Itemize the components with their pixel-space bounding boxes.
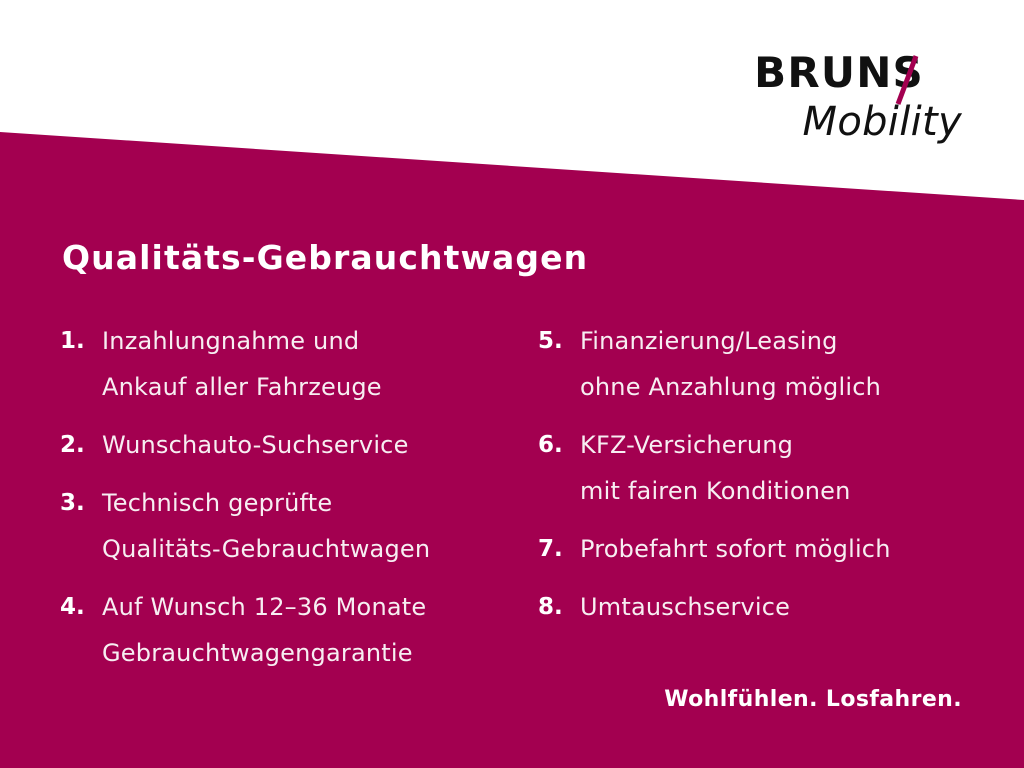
list-item-text: KFZ-Versicherung mit fairen Konditionen [580,422,998,514]
list-item-number: 4. [60,584,102,630]
list-item-line: KFZ-Versicherung [580,422,998,468]
list-item-number: 1. [60,318,102,364]
list-item: 8. Umtauschservice [538,584,998,630]
list-item: 2. Wunschauto-Suchservice [60,422,520,468]
list-item-number: 5. [538,318,580,364]
list-item-text: Umtauschservice [580,584,998,630]
list-item-line: Auf Wunsch 12–36 Monate [102,584,520,630]
list-item-number: 3. [60,480,102,526]
list-item-line: Gebrauchtwagengarantie [102,630,520,676]
list-item-line: Inzahlungnahme und [102,318,520,364]
benefits-list-right: 5. Finanzierung/Leasing ohne Anzahlung m… [538,318,998,642]
list-item-number: 2. [60,422,102,468]
list-item: 3. Technisch geprüfte Qualitäts-Gebrauch… [60,480,520,572]
tagline: Wohlfühlen. Losfahren. [664,687,962,712]
list-item: 4. Auf Wunsch 12–36 Monate Gebrauchtwage… [60,584,520,676]
list-item: 1. Inzahlungnahme und Ankauf aller Fahrz… [60,318,520,410]
list-item-line: Finanzierung/Leasing [580,318,998,364]
list-item-line: Qualitäts-Gebrauchtwagen [102,526,520,572]
list-item: 7. Probefahrt sofort möglich [538,526,998,572]
list-item: 6. KFZ-Versicherung mit fairen Kondition… [538,422,998,514]
list-item-text: Probefahrt sofort möglich [580,526,998,572]
list-item-number: 6. [538,422,580,468]
list-item-line: Umtauschservice [580,584,998,630]
list-item-line: Ankauf aller Fahrzeuge [102,364,520,410]
list-item-line: Technisch geprüfte [102,480,520,526]
list-item-text: Finanzierung/Leasing ohne Anzahlung mögl… [580,318,998,410]
list-item-number: 7. [538,526,580,572]
list-item-text: Auf Wunsch 12–36 Monate Gebrauchtwagenga… [102,584,520,676]
list-item-line: ohne Anzahlung möglich [580,364,998,410]
benefits-list-left: 1. Inzahlungnahme und Ankauf aller Fahrz… [60,318,520,688]
list-item-text: Technisch geprüfte Qualitäts-Gebrauchtwa… [102,480,520,572]
presentation-slide: BRUNS Mobility Qualitäts-Gebrauchtwagen … [0,0,1024,768]
list-item-text: Wunschauto-Suchservice [102,422,520,468]
list-item-text: Inzahlungnahme und Ankauf aller Fahrzeug… [102,318,520,410]
list-item-line: Wunschauto-Suchservice [102,422,520,468]
logo-brand-text: BRUNS [754,48,924,98]
page-title: Qualitäts-Gebrauchtwagen [62,238,588,277]
list-item-line: mit fairen Konditionen [580,468,998,514]
list-item-line: Probefahrt sofort möglich [580,526,998,572]
logo-subbrand-text: Mobility [803,98,962,146]
list-item: 5. Finanzierung/Leasing ohne Anzahlung m… [538,318,998,410]
list-item-number: 8. [538,584,580,630]
company-logo: BRUNS Mobility [652,48,962,158]
